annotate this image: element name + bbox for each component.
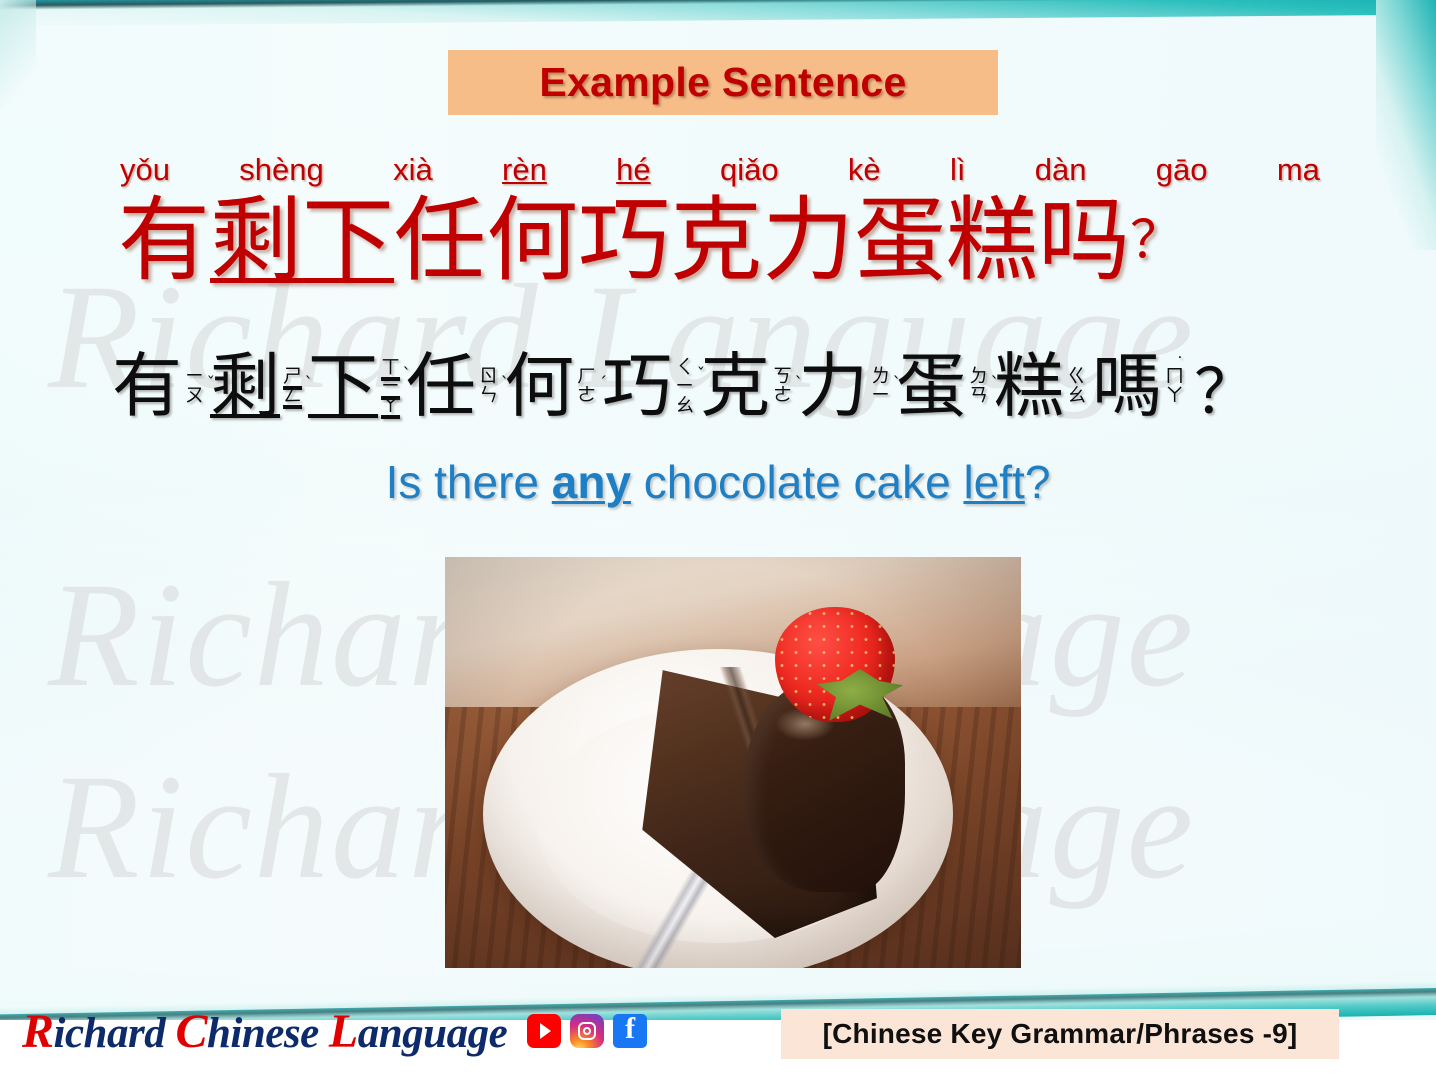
pinyin-syllable: kè — [848, 152, 881, 188]
pinyin-syllable: ma — [1277, 152, 1320, 188]
facebook-icon[interactable]: f — [613, 1014, 647, 1048]
photo-edge-right — [1376, 0, 1436, 250]
simplified-char: 蛋 — [854, 189, 946, 293]
traditional-char-unit: 有ㄧㄡˇ — [112, 346, 210, 426]
zhuyin-symbol: ㄧ — [675, 377, 694, 396]
zhuyin-tone-mark: ˋ — [795, 376, 804, 393]
english-fragment: Is there — [386, 456, 552, 508]
simplified-char: 糕 — [946, 189, 1038, 293]
traditional-char: 剩 — [210, 346, 280, 426]
brand-accent-letter: C — [175, 1005, 207, 1058]
pinyin-syllable: lì — [950, 152, 966, 188]
brand-block: Richard Chinese Language f — [22, 1005, 647, 1057]
traditional-char-unit: 嗎ㄇㄚ˙ — [1092, 346, 1190, 426]
pinyin-syllable: shèng — [239, 152, 323, 188]
photo-edge-top-dark — [0, 0, 1436, 10]
traditional-char-unit: 巧ㄑㄧㄠˇ — [602, 346, 700, 426]
zhuyin-annotation: ㄏㄜˊ — [577, 367, 596, 405]
zhuyin-symbol: ㄠ — [675, 396, 694, 415]
youtube-icon[interactable] — [527, 1014, 561, 1048]
zhuyin-tone-mark: ˊ — [599, 376, 608, 393]
traditional-char: 何 — [504, 346, 574, 426]
traditional-char: 糕 — [994, 346, 1064, 426]
traditional-char-unit: 何ㄏㄜˊ — [504, 346, 602, 426]
zhuyin-symbol: ㄜ — [577, 386, 596, 405]
english-fragment: ? — [1025, 456, 1051, 508]
simplified-char: 任 — [394, 189, 486, 293]
series-tag-label: [Chinese Key Grammar/Phrases -9] — [823, 1018, 1298, 1050]
banner-title: Example Sentence — [539, 59, 906, 106]
zhuyin-annotation: ㄧㄡˇ — [185, 367, 204, 405]
english-fragment: chocolate cake — [631, 456, 963, 508]
brand-accent-letter: R — [22, 1005, 54, 1058]
brand-accent-letter: L — [329, 1005, 358, 1058]
zhuyin-annotation: ㄕㄥˋ — [283, 367, 302, 405]
zhuyin-tone-mark: ˋ — [305, 376, 314, 393]
zhuyin-annotation: ㄒㄧㄚˋ — [381, 358, 400, 415]
traditional-char-unit: 任ㄖㄣˋ — [406, 346, 504, 426]
english-fragment: left — [963, 456, 1024, 508]
zhuyin-annotation: ㄌㄧˋ — [871, 367, 890, 405]
pinyin-row: yǒushèngxiàrènhéqiǎokèlìdàngāoma — [120, 148, 1320, 188]
zhuyin-symbol: ㄜ — [773, 386, 792, 405]
traditional-char-unit: 蛋ㄉㄢˋ — [896, 346, 994, 426]
example-sentence-banner: Example Sentence — [448, 50, 998, 115]
photo-edge-top — [0, 0, 1436, 26]
simplified-char: 有 — [118, 189, 210, 293]
social-links: f — [527, 1014, 647, 1048]
facebook-glyph: f — [613, 1012, 647, 1046]
simplified-sentence: 有剩下任何巧克力蛋糕吗？ — [118, 186, 1338, 296]
zhuyin-symbol: ㄠ — [1067, 386, 1086, 405]
simplified-char: 力 — [762, 189, 854, 293]
zhuyin-annotation: ㄇㄚ˙ — [1165, 367, 1184, 405]
pinyin-syllable: rèn — [502, 152, 547, 188]
zhuyin-tone-mark: ˋ — [991, 376, 1000, 393]
traditional-char-unit: 糕ㄍㄠ — [994, 346, 1092, 426]
pinyin-syllable: dàn — [1035, 152, 1087, 188]
traditional-char-unit: 力ㄌㄧˋ — [798, 346, 896, 426]
simplified-char: 何 — [486, 189, 578, 293]
zhuyin-symbol: ㄡ — [185, 386, 204, 405]
traditional-char: 下 — [308, 346, 378, 426]
zhuyin-tone-mark: ˙ — [1176, 356, 1185, 373]
cake-photo — [445, 557, 1021, 968]
traditional-char: 嗎 — [1092, 346, 1162, 426]
pinyin-syllable: yǒu — [120, 152, 170, 188]
brand-segment: hinese — [207, 1010, 329, 1057]
simplified-char: 下 — [302, 189, 394, 293]
brand-title: Richard Chinese Language — [22, 1004, 507, 1059]
traditional-char: 蛋 — [896, 346, 966, 426]
pinyin-syllable: gāo — [1156, 152, 1208, 188]
pinyin-syllable: xià — [393, 152, 433, 188]
english-translation: Is there any chocolate cake left? — [0, 455, 1436, 509]
slide-canvas: Richard Language Richard Language Richar… — [0, 0, 1436, 1075]
zhuyin-symbol: ㄥ — [283, 386, 302, 405]
zhuyin-annotation: ㄉㄢˋ — [969, 367, 988, 405]
zhuyin-tone-mark: ˋ — [893, 376, 902, 393]
zhuyin-symbol: ㄧ — [871, 386, 890, 405]
simplified-char: 克 — [670, 189, 762, 293]
instagram-icon[interactable] — [570, 1014, 604, 1048]
simplified-char: 巧 — [578, 189, 670, 293]
zhuyin-annotation: ㄎㄜˋ — [773, 367, 792, 405]
traditional-char-unit: 下ㄒㄧㄚˋ — [308, 346, 406, 426]
zhuyin-annotation: ㄍㄠ — [1067, 367, 1086, 405]
traditional-char: 巧 — [602, 346, 672, 426]
zhuyin-symbol: ㄢ — [969, 386, 988, 405]
traditional-question-mark: ？ — [1194, 341, 1256, 431]
traditional-char: 有 — [112, 346, 182, 426]
series-tag: [Chinese Key Grammar/Phrases -9] — [781, 1009, 1339, 1059]
zhuyin-annotation: ㄑㄧㄠˇ — [675, 358, 694, 415]
photo-edge-left — [0, 0, 36, 120]
zhuyin-tone-mark: ˋ — [501, 376, 510, 393]
zhuyin-symbol: ㄧ — [381, 377, 400, 396]
zhuyin-annotation: ㄖㄣˋ — [479, 367, 498, 405]
simplified-question-mark: ？ — [1130, 189, 1182, 293]
pinyin-syllable: qiǎo — [720, 152, 779, 188]
brand-segment: ichard — [54, 1010, 176, 1057]
english-fragment: any — [552, 456, 631, 508]
zhuyin-tone-mark: ˋ — [403, 367, 412, 384]
zhuyin-symbol: ㄚ — [1165, 386, 1184, 405]
brand-segment: anguage — [358, 1010, 507, 1057]
simplified-char: 吗 — [1038, 189, 1130, 293]
traditional-char-unit: 剩ㄕㄥˋ — [210, 346, 308, 426]
photo-vignette — [445, 557, 1021, 968]
zhuyin-tone-mark: ˇ — [207, 376, 216, 393]
zhuyin-symbol: ㄚ — [381, 396, 400, 415]
zhuyin-tone-mark: ˇ — [697, 367, 706, 384]
pinyin-syllable: hé — [616, 152, 650, 188]
traditional-char-unit: 克ㄎㄜˋ — [700, 346, 798, 426]
traditional-char: 克 — [700, 346, 770, 426]
zhuyin-symbol: ㄑ — [675, 358, 694, 377]
traditional-char: 任 — [406, 346, 476, 426]
zhuyin-symbol: ㄣ — [479, 386, 498, 405]
traditional-sentence-with-zhuyin: 有ㄧㄡˇ剩ㄕㄥˋ下ㄒㄧㄚˋ任ㄖㄣˋ何ㄏㄜˊ巧ㄑㄧㄠˇ克ㄎㄜˋ力ㄌㄧˋ蛋ㄉㄢˋ糕ㄍ… — [112, 338, 1352, 434]
zhuyin-symbol: ㄒ — [381, 358, 400, 377]
simplified-char: 剩 — [210, 189, 302, 293]
traditional-char: 力 — [798, 346, 868, 426]
